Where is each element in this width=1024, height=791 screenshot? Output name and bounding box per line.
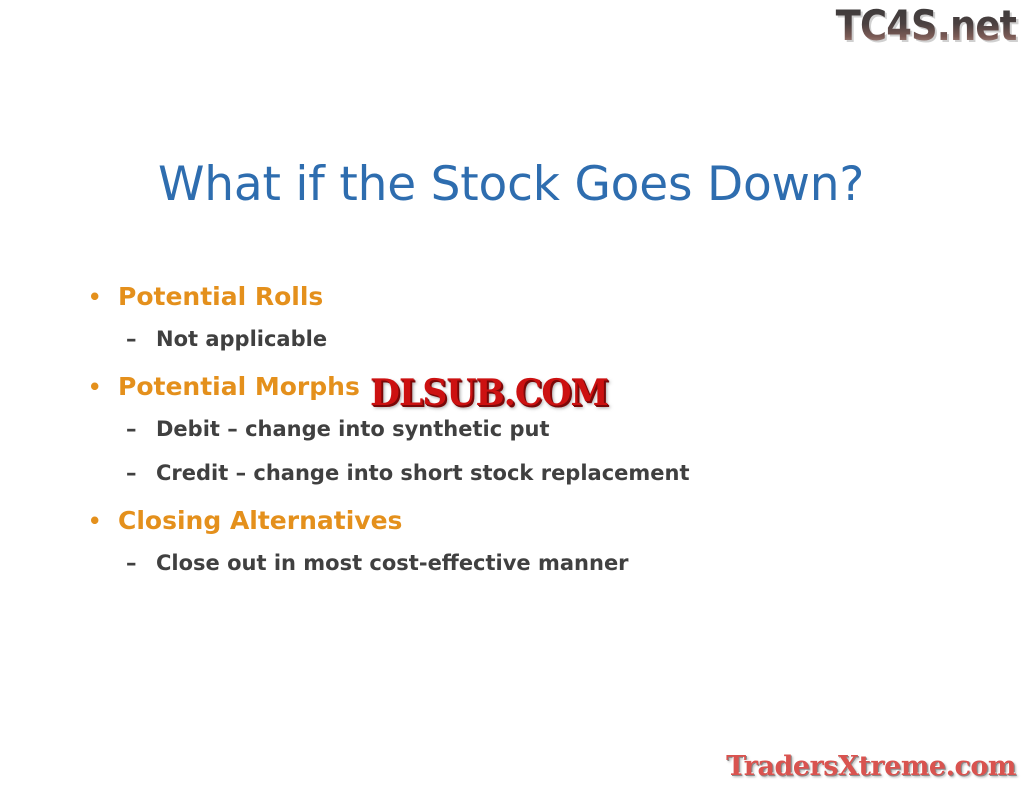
bullet-level2: – Credit – change into short stock repla… bbox=[126, 456, 944, 490]
page-title: What if the Stock Goes Down? bbox=[158, 157, 918, 213]
bullet-level2: – Close out in most cost-effective manne… bbox=[126, 546, 944, 580]
bullet-level1-label: Potential Morphs bbox=[118, 368, 360, 406]
presentation-slide: TC4S.net TC4S.net What if the Stock Goes… bbox=[0, 0, 1024, 791]
footer-watermark: TradersXtreme.com bbox=[726, 751, 1016, 783]
bullet-level2: – Not applicable bbox=[126, 322, 944, 356]
bullet-level2-label: Not applicable bbox=[156, 322, 327, 356]
bullet-level2-label: Debit – change into synthetic put bbox=[156, 412, 549, 446]
bullet-list: • Potential Rolls – Not applicable • Pot… bbox=[84, 278, 944, 582]
bullet-dot-icon: • bbox=[84, 502, 118, 540]
bullet-level1-label: Closing Alternatives bbox=[118, 502, 402, 540]
bullet-group: • Closing Alternatives – Close out in mo… bbox=[84, 502, 944, 580]
bullet-dash-icon: – bbox=[126, 412, 156, 446]
bullet-level2: – Debit – change into synthetic put bbox=[126, 412, 944, 446]
bullet-level1: • Closing Alternatives bbox=[84, 502, 944, 540]
overlay-watermark: DLSUB.COM bbox=[370, 372, 608, 414]
bullet-dash-icon: – bbox=[126, 456, 156, 490]
bullet-level1: • Potential Rolls bbox=[84, 278, 944, 316]
bullet-level2-label: Close out in most cost-effective manner bbox=[156, 546, 629, 580]
bullet-dot-icon: • bbox=[84, 368, 118, 406]
bullet-dash-icon: – bbox=[126, 322, 156, 356]
bullet-dot-icon: • bbox=[84, 278, 118, 316]
bullet-level2-label: Credit – change into short stock replace… bbox=[156, 456, 690, 490]
bullet-group: • Potential Rolls – Not applicable bbox=[84, 278, 944, 356]
brand-logo: TC4S.net bbox=[835, 2, 1016, 50]
bullet-level1-label: Potential Rolls bbox=[118, 278, 323, 316]
bullet-dash-icon: – bbox=[126, 546, 156, 580]
